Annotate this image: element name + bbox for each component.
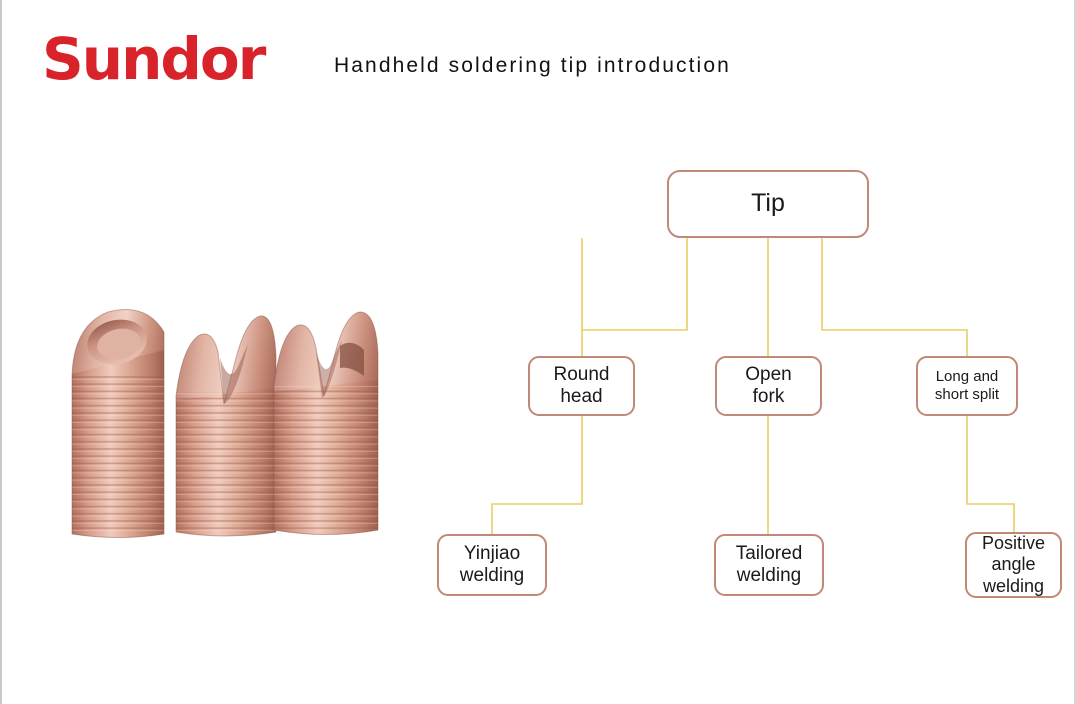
node-open-fork-label: Open fork	[745, 364, 791, 409]
soldering-tips-photo	[64, 292, 394, 544]
tip-long-short-split	[274, 312, 378, 535]
node-round-head-label: Round head	[554, 364, 610, 409]
node-tip[interactable]: Tip	[667, 170, 869, 238]
node-tip-label: Tip	[751, 189, 785, 219]
node-round-head[interactable]: Round head	[528, 356, 635, 416]
slide-canvas: Sundor Handheld soldering tip introducti…	[0, 0, 1076, 704]
node-tailored-welding[interactable]: Tailored welding	[714, 534, 824, 596]
tip-open-fork	[176, 316, 276, 536]
node-yinjiao-welding-label: Yinjiao welding	[460, 543, 524, 588]
tip-hierarchy-diagram: Tip Round head Open fork Long and short …	[422, 150, 1076, 620]
node-open-fork[interactable]: Open fork	[715, 356, 822, 416]
node-tailored-welding-label: Tailored welding	[736, 543, 803, 588]
node-positive-angle-welding-label: Positive angle welding	[982, 533, 1045, 597]
brand-logo: Sundor	[42, 30, 264, 88]
node-long-and-short-split-label: Long and short split	[935, 368, 999, 403]
node-long-and-short-split[interactable]: Long and short split	[916, 356, 1018, 416]
node-yinjiao-welding[interactable]: Yinjiao welding	[437, 534, 547, 596]
soldering-tips-illustration	[64, 292, 394, 544]
tip-round-head	[72, 310, 164, 538]
node-positive-angle-welding[interactable]: Positive angle welding	[965, 532, 1062, 598]
page-title: Handheld soldering tip introduction	[334, 54, 731, 78]
